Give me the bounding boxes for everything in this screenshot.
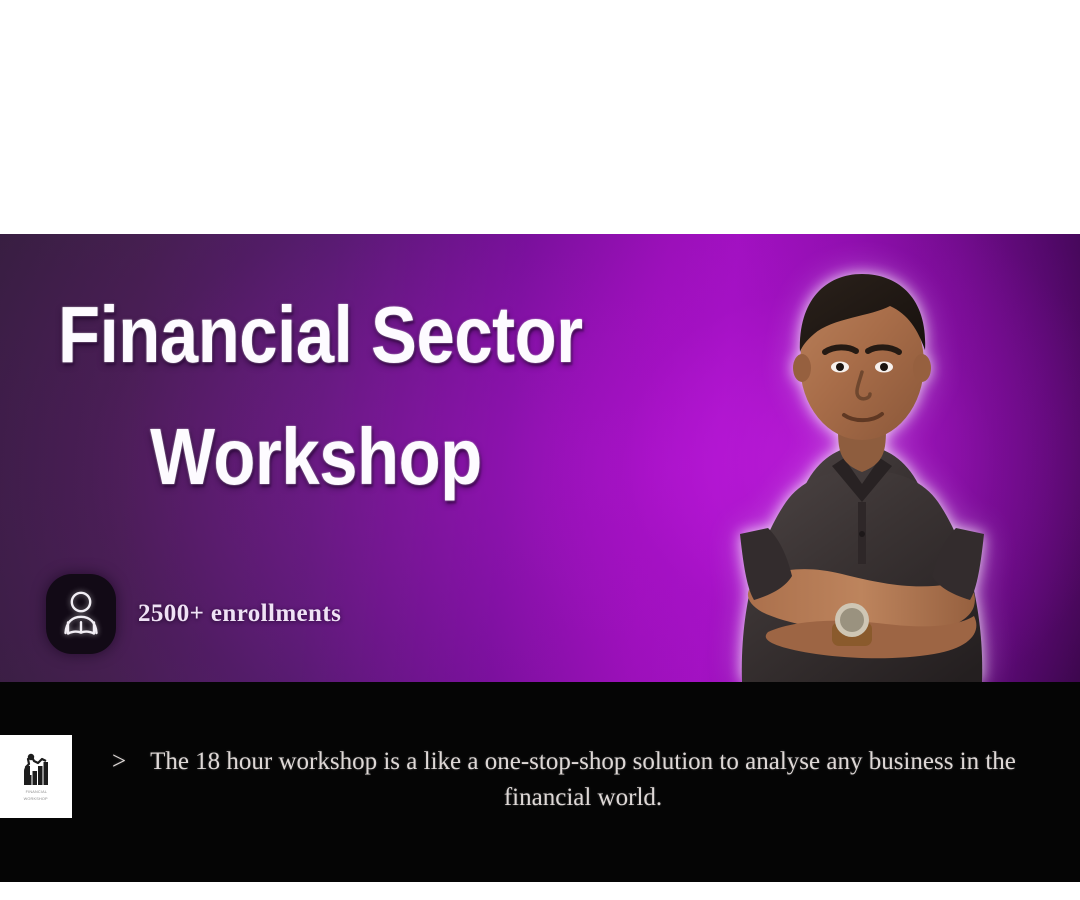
bottom-whitespace	[0, 882, 1080, 900]
headline-line-1: Financial Sector	[58, 274, 574, 396]
logo-caption-line-2: WORKSHOP	[24, 796, 48, 801]
caption-bar: > The 18 hour workshop is a like a one-s…	[0, 682, 1080, 882]
caption-text: > The 18 hour workshop is a like a one-s…	[108, 744, 1038, 816]
hero-banner: Financial Sector Workshop 2500+ enrollme…	[0, 234, 1080, 682]
presenter-photo	[682, 234, 1042, 682]
company-logo[interactable]: FINANCIAL WORKSHOP	[0, 735, 72, 818]
person-reading-book-glyph	[59, 589, 103, 639]
top-whitespace	[0, 0, 1080, 234]
logo-caption-line-1: FINANCIAL	[25, 789, 47, 794]
presenter-pupil-left	[836, 363, 844, 371]
enrollment-badge: 2500+ enrollments	[46, 574, 341, 654]
presenter-ear-left	[793, 354, 811, 382]
person-with-bar-chart-icon	[16, 753, 56, 787]
presenter-watch-dial	[840, 608, 864, 632]
presenter-pupil-right	[880, 363, 888, 371]
screenshot-root: Financial Sector Workshop 2500+ enrollme…	[0, 0, 1080, 900]
presenter-ear-right	[913, 354, 931, 382]
enrollment-count-label: 2500+ enrollments	[138, 600, 341, 628]
caption-body: The 18 hour workshop is a like a one-sto…	[108, 744, 1038, 816]
person-reading-book-icon	[46, 574, 116, 654]
chevron-right-icon: >	[112, 744, 126, 780]
headline-line-2: Workshop	[58, 396, 574, 518]
page-title: Financial Sector Workshop	[58, 274, 574, 518]
presenter-photo-inner	[682, 234, 1042, 682]
presenter-illustration	[682, 234, 1042, 682]
presenter-button	[859, 531, 865, 537]
